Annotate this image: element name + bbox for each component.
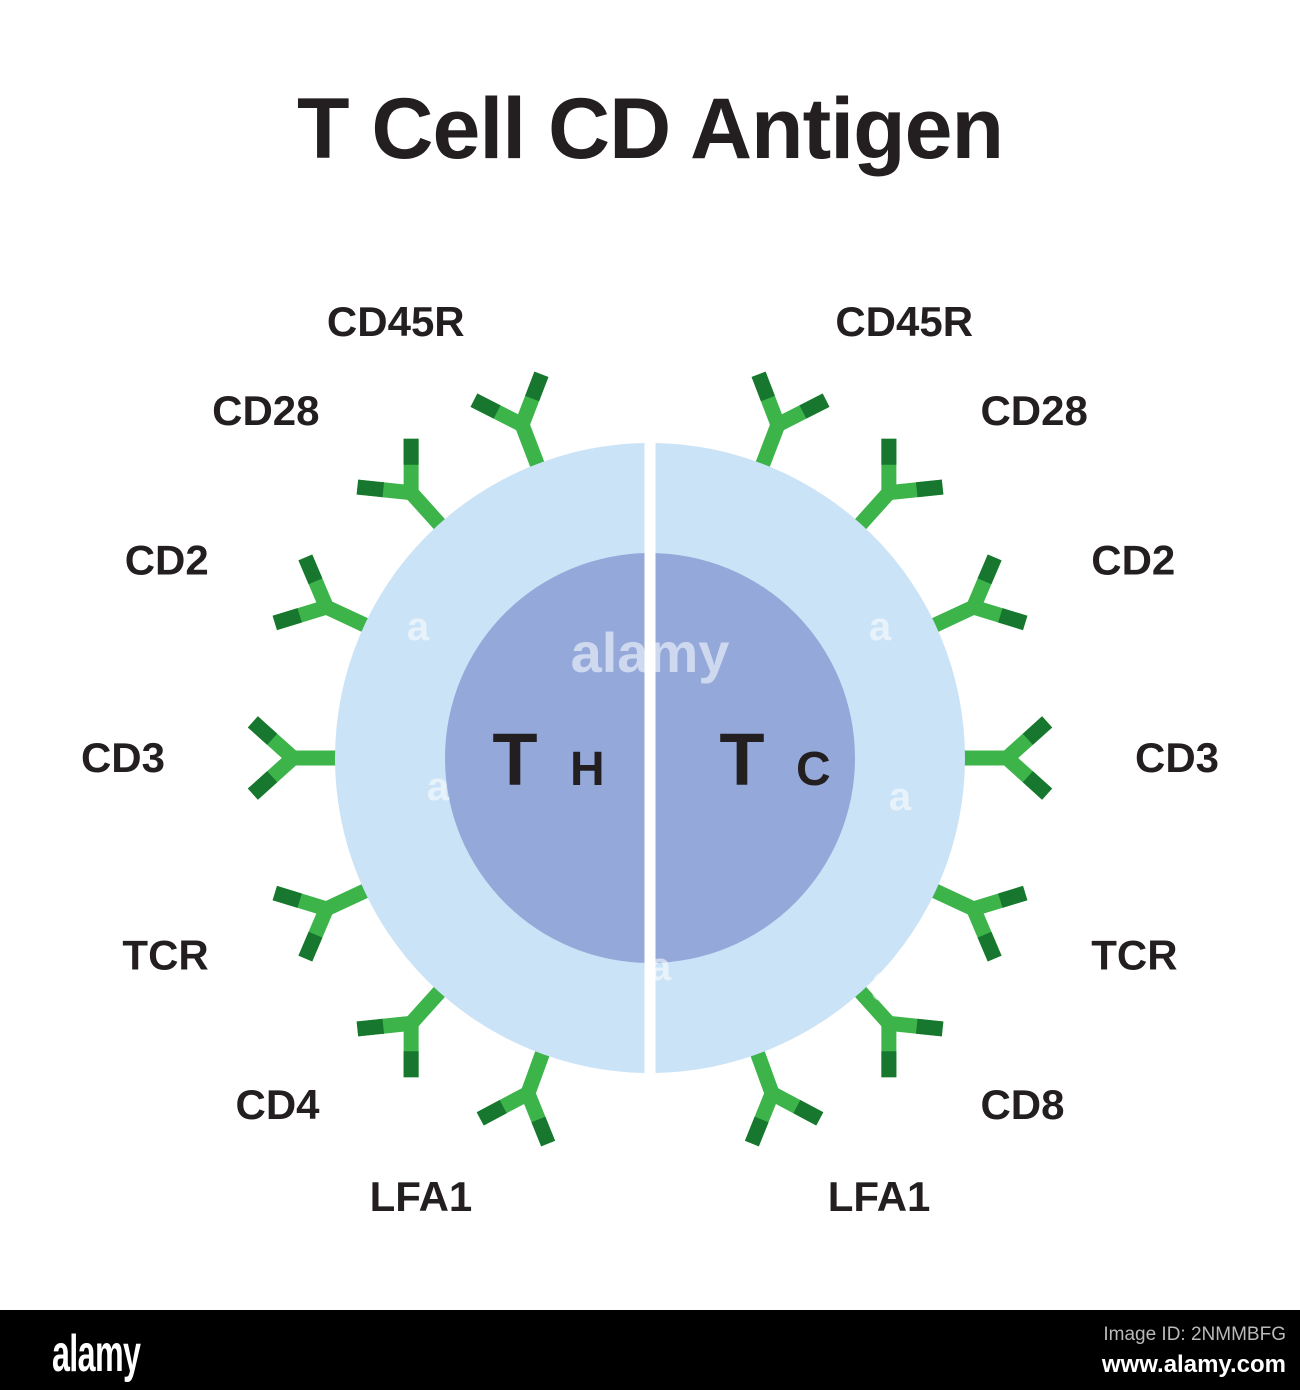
receptor-tcr [932,889,1025,958]
receptor-label-cd4: CD4 [235,1081,320,1128]
receptor-label-cd2: CD2 [125,537,209,584]
receptor-tcr [275,889,368,958]
receptor-label-cd45r: CD45R [835,298,973,345]
receptor-stem [932,889,974,908]
receptor-lfa1 [480,1050,548,1143]
receptor-tip-1 [357,487,383,490]
th-label-main: T [492,718,537,801]
tc-label-sub: C [796,743,831,796]
receptor-label-tcr: TCR [1091,931,1177,978]
receptor-tip-2 [1028,777,1047,794]
image-id-text: Image ID: 2NMMBFG [986,1324,1286,1346]
receptor-tip-1 [305,935,315,959]
figure-canvas: T Cell CD Antigen alamy a a a [0,0,1300,1310]
receptor-label-cd3: CD3 [81,734,165,781]
receptor-tip-1 [474,400,497,412]
alamy-url: www.alamy.com [986,1351,1286,1379]
watermark-mark-a: a [407,605,430,649]
receptor-stem [411,493,442,527]
watermark-mark-c: a [427,765,450,809]
receptor-stem [411,989,442,1023]
receptor-tip-1 [275,615,300,623]
receptor-label-cd2: CD2 [1091,537,1175,584]
th-label-sub: H [570,743,605,796]
receptor-label-cd45r: CD45R [327,298,465,345]
receptor-label-tcr: TCR [122,931,208,978]
receptor-label-cd8: CD8 [980,1081,1064,1128]
receptor-stem [932,607,974,626]
receptor-label-cd3: CD3 [1135,734,1219,781]
receptor-tip-1 [797,1107,820,1119]
receptor-tip-1 [759,374,768,398]
receptor-cd4 [357,989,441,1077]
receptor-tip-2 [275,893,300,901]
receptor-cd2 [932,557,1025,626]
watermark-mark-b: a [869,605,892,649]
receptor-tip-2 [480,1107,503,1119]
receptor-cd28 [858,439,942,527]
tc-label-main: T [719,718,764,801]
receptor-stem [326,607,368,626]
receptor-label-lfa1: LFA1 [370,1173,473,1220]
receptor-label-lfa1: LFA1 [828,1173,931,1220]
receptor-tip-1 [1000,893,1025,901]
receptor-lfa1 [752,1050,820,1143]
receptor-cd2 [275,557,368,626]
receptor-tip-2 [305,557,315,581]
receptor-cd45r [759,374,826,467]
watermark-mark-d: a [889,775,912,819]
receptor-tip-2 [917,487,943,490]
receptor-cd45r [474,374,541,467]
receptor-tip-1 [917,1026,943,1029]
receptor-tip-1 [253,777,272,794]
watermark-mark-f: alam [871,954,990,1012]
receptor-label-cd28: CD28 [212,387,319,434]
receptor-tip-2 [1000,615,1025,623]
receptor-stem [326,889,368,908]
receptor-tip-1 [1028,722,1047,739]
receptor-tip-2 [253,722,272,739]
receptor-cd28 [357,439,441,527]
receptor-stem [522,425,538,468]
alamy-logo: alamy [52,1324,140,1384]
receptor-stem [756,1050,772,1093]
receptor-cd3 [961,722,1047,794]
receptor-stem [528,1050,544,1093]
receptor-label-cd28: CD28 [980,387,1087,434]
receptor-stem [858,493,889,527]
receptor-tip-2 [752,1119,762,1143]
stock-footer-bar: alamy Image ID: 2NMMBFG www.alamy.com [0,1310,1300,1390]
receptor-tip-1 [984,557,994,581]
receptor-cd3 [253,722,339,794]
t-cell-diagram: alamy a a a a a alam T H T C CD45RCD28CD… [0,0,1300,1310]
receptor-stem [761,425,777,468]
receptor-tip-2 [357,1026,383,1029]
receptor-tip-2 [532,374,541,398]
cell-divider [645,437,656,1079]
receptor-tip-2 [803,400,826,412]
receptor-tip-1 [538,1119,548,1143]
